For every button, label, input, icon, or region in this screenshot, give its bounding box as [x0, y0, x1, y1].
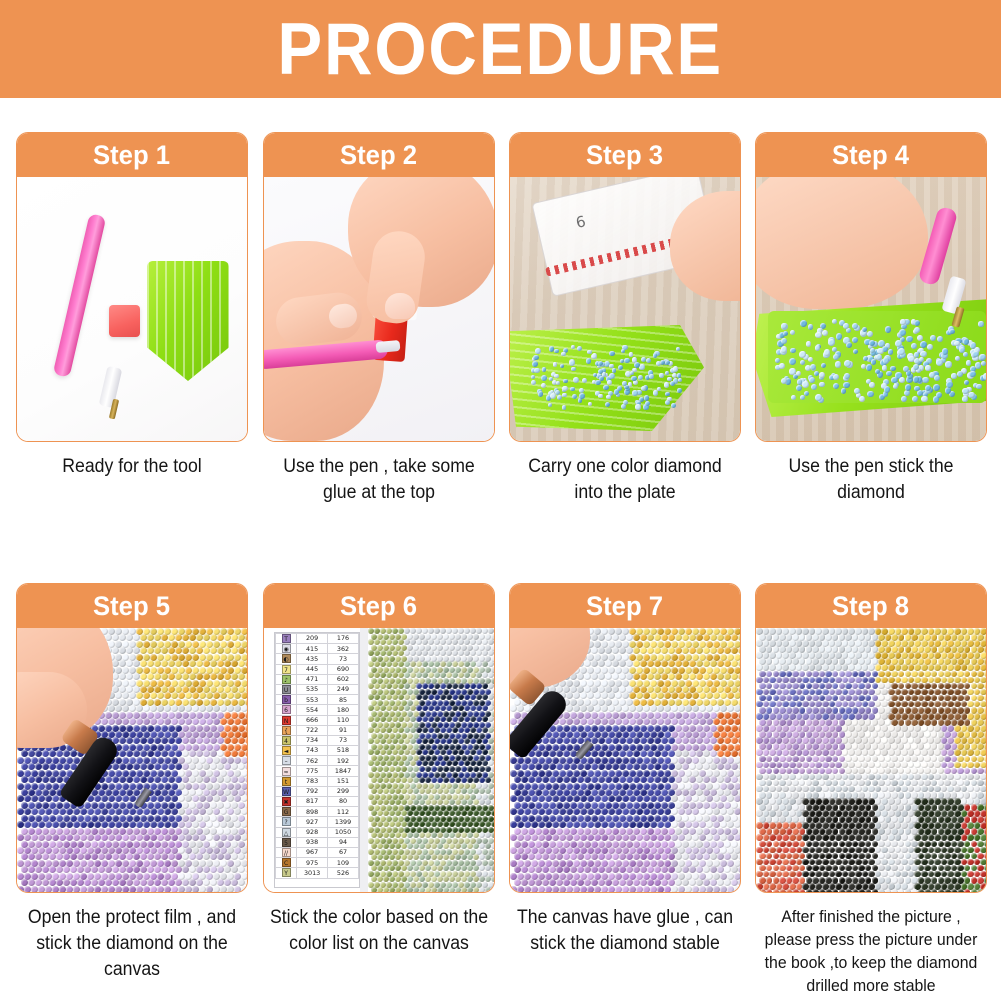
diamond-bead — [136, 834, 143, 841]
diamond-bead — [738, 673, 741, 680]
diamond-bead — [844, 360, 851, 367]
color-code-cell: 553 — [297, 695, 328, 705]
diamond-bead — [963, 338, 970, 345]
color-symbol-icon: ≈ — [282, 767, 291, 776]
diamond-bead — [678, 886, 685, 892]
diamond-bead — [727, 834, 734, 841]
diamond-bead — [671, 403, 676, 408]
color-swatch-cell: 5 — [276, 837, 297, 847]
step-2-image — [264, 177, 494, 441]
step-5-header: Step 5 — [17, 584, 247, 628]
diamond-bead — [911, 343, 917, 349]
diamond-bead — [192, 834, 199, 841]
diamond-bead — [17, 834, 24, 841]
glue-square-icon — [109, 305, 140, 337]
step-card-1[interactable]: Step 1 — [16, 132, 248, 442]
diamond-bead — [895, 340, 902, 347]
step-3-caption: Carry one color diamond into the plate — [513, 454, 736, 506]
diamond-bead — [199, 834, 206, 841]
color-code-cell: 783 — [297, 776, 328, 786]
color-chart-row: ◐43573 — [276, 654, 359, 664]
diamond-bead — [665, 371, 669, 375]
diamond-bead — [227, 834, 234, 841]
diamond-bead — [673, 366, 678, 371]
diamond-bead — [659, 373, 664, 378]
color-code-cell: 743 — [297, 746, 328, 756]
color-chart-row: //96767 — [276, 847, 359, 857]
diamond-bead — [643, 834, 650, 841]
fingernail-icon — [385, 293, 415, 319]
diamond-bead — [206, 886, 213, 892]
diamond-bead — [17, 886, 24, 892]
color-swatch-cell: N — [276, 715, 297, 725]
color-code-cell: 554 — [297, 705, 328, 715]
color-code-cell: 898 — [297, 807, 328, 817]
diamond-bead — [164, 886, 171, 892]
color-count-cell: 85 — [328, 695, 359, 705]
step-card-4[interactable]: Step 4 — [755, 132, 987, 442]
color-swatch-cell: W — [276, 786, 297, 796]
diamond-bead — [781, 346, 787, 352]
diamond-bead — [608, 886, 615, 892]
color-symbol-icon: { — [282, 726, 291, 735]
diamond-bead — [578, 398, 582, 402]
diamond-bead — [38, 886, 45, 892]
step-card-2[interactable]: Step 2 — [263, 132, 495, 442]
color-swatch-cell: △ — [276, 827, 297, 837]
color-count-cell: 67 — [328, 847, 359, 857]
diamond-bead — [52, 886, 59, 892]
color-symbol-icon: G — [282, 807, 291, 816]
step-5-image — [17, 628, 247, 892]
diamond-bead — [577, 346, 582, 351]
diamond-bead — [671, 886, 678, 892]
diamond-bead — [538, 391, 544, 397]
diamond-bead — [671, 834, 678, 841]
diamond-bead — [108, 886, 115, 892]
diamond-bead — [587, 834, 594, 841]
diamond-bead — [532, 361, 538, 367]
step-1-header-label: Step 1 — [94, 142, 171, 169]
color-swatch-cell: b — [276, 695, 297, 705]
color-count-cell: 518 — [328, 746, 359, 756]
diamond-bead — [962, 388, 968, 394]
diamond-bead — [734, 834, 740, 841]
color-symbol-icon: ? — [282, 817, 291, 826]
diamond-bead — [535, 348, 541, 354]
step-card-5[interactable]: Step 5 — [16, 583, 248, 893]
step-5-header-label: Step 5 — [94, 593, 171, 620]
diamond-bead — [629, 886, 636, 892]
diamond-bead — [510, 886, 517, 892]
diamond-bead — [620, 359, 624, 363]
diamond-bead — [859, 396, 865, 402]
diamond-bead — [962, 396, 967, 401]
diamond-bead — [664, 382, 669, 387]
color-swatch-cell: ♪ — [276, 674, 297, 684]
hand-icon — [756, 177, 928, 309]
diamond-bead — [677, 388, 681, 392]
color-code-cell: 722 — [297, 725, 328, 735]
diamond-bead — [983, 373, 986, 379]
color-chart-row: 593894 — [276, 837, 359, 847]
color-swatch-cell: ◄ — [276, 746, 297, 756]
diamond-bead — [45, 886, 52, 892]
color-chart-row: △9281050 — [276, 827, 359, 837]
color-count-cell: 151 — [328, 776, 359, 786]
diamond-bead — [524, 886, 531, 892]
diamond-bead — [815, 394, 822, 401]
diamond-bead — [66, 834, 73, 841]
diamond-bead — [852, 337, 858, 343]
diamond-bead — [685, 834, 692, 841]
diamond-bead — [115, 886, 122, 892]
step-3-header: Step 3 — [510, 133, 740, 177]
diamond-bead — [713, 886, 720, 892]
diamond-bead — [538, 834, 545, 841]
color-code-cell: 927 — [297, 817, 328, 827]
color-count-cell: 91 — [328, 725, 359, 735]
color-swatch-cell: Y — [276, 868, 297, 878]
diamond-bead — [554, 374, 558, 378]
diamond-bead — [936, 359, 943, 366]
diamond-bead — [566, 834, 573, 841]
color-symbol-icon: Y — [282, 868, 291, 877]
page-gap — [360, 628, 368, 892]
color-symbol-icon: △ — [282, 828, 291, 837]
color-chart-row: T209176 — [276, 634, 359, 644]
diamond-bead — [844, 373, 850, 379]
diamond-bead — [545, 886, 552, 892]
diamond-bead — [594, 886, 601, 892]
diamond-bead — [875, 369, 880, 374]
diamond-bead — [914, 386, 920, 392]
diamond-bead — [559, 886, 566, 892]
diamond-bead — [828, 339, 835, 346]
diamond-bead — [913, 364, 919, 370]
diamond-bead — [664, 834, 671, 841]
diamond-bead — [561, 352, 565, 356]
diamond-bead — [905, 384, 911, 390]
diamond-bead — [563, 379, 567, 383]
diamond-bead — [841, 388, 846, 393]
color-symbol-icon: 5 — [282, 838, 291, 847]
diamond-bead — [31, 886, 38, 892]
diamond-bead — [884, 386, 891, 393]
color-swatch-cell: 6 — [276, 705, 297, 715]
color-chart-row: {72291 — [276, 725, 359, 735]
diamond-bead — [129, 886, 136, 892]
diamond-bead — [867, 331, 873, 337]
diamond-bead — [164, 834, 171, 841]
diamond-bead — [876, 354, 882, 360]
step-1-header: Step 1 — [17, 133, 247, 177]
diamond-bead — [552, 886, 559, 892]
diamond-bead — [38, 834, 45, 841]
step-card-8[interactable]: Step 8 — [755, 583, 987, 893]
color-code-cell: 975 — [297, 858, 328, 868]
finished-diamond-painting — [756, 628, 986, 892]
diamond-bead — [24, 886, 31, 892]
diamond-bead — [636, 886, 643, 892]
diamond-bead — [833, 383, 839, 389]
step-4-image — [756, 177, 986, 441]
color-swatch-cell: ? — [276, 817, 297, 827]
diamond-bead — [31, 834, 38, 841]
diamond-bead — [609, 373, 615, 379]
color-chart-table: T209176◉415362◐435737445690♪471602U53524… — [275, 633, 359, 879]
diamond-bead — [615, 834, 622, 841]
diamond-bead — [517, 886, 524, 892]
color-count-cell: 109 — [328, 858, 359, 868]
diamond-bead — [969, 371, 976, 378]
step-2-header: Step 2 — [264, 133, 494, 177]
color-count-cell: 602 — [328, 674, 359, 684]
color-swatch-cell: ◐ — [276, 654, 297, 664]
diamond-bead — [143, 886, 150, 892]
diamond-bead — [24, 834, 31, 841]
color-count-cell: 176 — [328, 634, 359, 644]
color-swatch-cell: ✖ — [276, 797, 297, 807]
color-code-cell: 666 — [297, 715, 328, 725]
color-chart-row: Y3013526 — [276, 868, 359, 878]
diamond-bead — [185, 834, 192, 841]
diamond-bead — [94, 886, 101, 892]
diamond-bead — [898, 348, 905, 355]
diamond-bead — [571, 367, 575, 371]
color-swatch-cell: U — [276, 684, 297, 694]
diamond-bead — [819, 382, 824, 387]
color-swatch-cell: // — [276, 847, 297, 857]
diamond-bead — [685, 886, 692, 892]
diamond-bead — [538, 886, 545, 892]
diamond-bead — [713, 834, 720, 841]
diamond-bead — [660, 360, 665, 365]
diamond-bead — [143, 834, 150, 841]
color-count-cell: 249 — [328, 684, 359, 694]
diamond-bead — [562, 393, 566, 397]
pen-tip-icon — [376, 340, 401, 353]
diamond-bead — [115, 834, 122, 841]
color-symbol-icon: N — [282, 716, 291, 725]
diamond-bead — [720, 834, 727, 841]
color-chart-row: t783151 — [276, 776, 359, 786]
color-count-cell: 80 — [328, 797, 359, 807]
diamond-bead — [101, 886, 108, 892]
step-card-7[interactable]: Step 7 — [509, 583, 741, 893]
color-symbol-icon: // — [282, 848, 291, 857]
diamond-bead — [706, 834, 713, 841]
diamond-bead — [942, 348, 948, 354]
color-chart-row: U535249 — [276, 684, 359, 694]
diamond-bead — [129, 834, 136, 841]
color-swatch-cell: ◉ — [276, 644, 297, 654]
color-symbol-icon: t — [282, 777, 291, 786]
diamond-bead — [692, 886, 699, 892]
diamond-bead — [213, 886, 220, 892]
diamond-bead — [649, 374, 653, 378]
diamond-bead — [635, 404, 640, 409]
color-chart-row: ≈7751847 — [276, 766, 359, 776]
color-symbol-icon: 6 — [282, 705, 291, 714]
diamond-bead — [699, 886, 706, 892]
diamond-bead — [664, 886, 671, 892]
diamond-bead — [580, 886, 587, 892]
diamond-bead — [157, 886, 164, 892]
diamond-bead — [608, 834, 615, 841]
step-3-image: 6 — [510, 177, 740, 441]
color-symbol-icon: ◉ — [282, 644, 291, 653]
diamond-bead — [968, 392, 974, 398]
diamond-bead — [582, 378, 587, 383]
diamond-bead — [213, 834, 220, 841]
diamond-bead — [650, 834, 657, 841]
diamond-bead — [592, 353, 598, 359]
diamond-bead — [87, 886, 94, 892]
color-code-cell: 435 — [297, 654, 328, 664]
diamond-bead — [549, 377, 553, 381]
diamond-bead — [808, 324, 813, 329]
diamond-bead — [150, 834, 157, 841]
diamond-bead — [524, 834, 531, 841]
color-count-cell: 362 — [328, 644, 359, 654]
color-swatch-cell: T — [276, 634, 297, 644]
diamond-bead — [631, 376, 636, 381]
color-swatch-cell: ≈ — [276, 766, 297, 776]
step-6-header: Step 6 — [264, 584, 494, 628]
diamond-bead — [636, 834, 643, 841]
diamond-bead — [598, 394, 603, 399]
diamond-bead — [866, 364, 872, 370]
diamond-bead — [245, 673, 248, 680]
diamond-bead — [623, 400, 628, 405]
diamond-bead — [945, 387, 951, 393]
diamond-bead — [781, 338, 787, 344]
color-chart-row: G898112 — [276, 807, 359, 817]
color-count-cell: 526 — [328, 868, 359, 878]
color-chart-row: W792299 — [276, 786, 359, 796]
diamond-bead — [906, 336, 913, 343]
diamond-bead — [579, 388, 584, 393]
diamond-bead — [59, 886, 66, 892]
color-symbol-icon: – — [282, 756, 291, 765]
diamond-bead — [706, 886, 713, 892]
color-chart-row: C975109 — [276, 858, 359, 868]
step-7-header: Step 7 — [510, 584, 740, 628]
color-count-cell: 192 — [328, 756, 359, 766]
diamond-bead — [781, 378, 787, 384]
diamond-bead — [122, 886, 129, 892]
step-6-image: T209176◉415362◐435737445690♪471602U53524… — [264, 628, 494, 892]
diamond-bead — [101, 834, 108, 841]
diamond-bead — [657, 834, 664, 841]
diamond-bead — [800, 395, 805, 400]
color-count-cell: 1847 — [328, 766, 359, 776]
diamond-bead — [234, 886, 241, 892]
diamond-bead — [925, 365, 931, 371]
diamond-bead — [552, 834, 559, 841]
color-symbol-icon: b — [282, 695, 291, 704]
step-card-3[interactable]: Step 3 6 — [509, 132, 741, 442]
diamond-bead — [920, 341, 927, 348]
diamond-bead — [650, 886, 657, 892]
color-count-cell: 180 — [328, 705, 359, 715]
color-code-cell: 734 — [297, 735, 328, 745]
diamond-bead — [946, 381, 953, 388]
color-code-cell: 471 — [297, 674, 328, 684]
diamond-bead — [615, 886, 622, 892]
diamond-bead — [157, 834, 164, 841]
color-code-cell: 445 — [297, 664, 328, 674]
diamond-bead — [185, 886, 192, 892]
color-code-cell: 535 — [297, 684, 328, 694]
diamond-bead — [606, 395, 611, 400]
diamond-bead — [643, 886, 650, 892]
color-code-cell: 415 — [297, 644, 328, 654]
color-chart-row: ✖81780 — [276, 797, 359, 807]
diamond-bead — [573, 377, 579, 383]
diamond-bead — [73, 834, 80, 841]
diamond-bead — [579, 393, 584, 398]
color-symbol-icon: T — [282, 634, 291, 643]
diamond-bead — [557, 395, 562, 400]
diamond-bead — [171, 886, 178, 892]
diamond-bead — [802, 381, 809, 388]
color-count-cell: 299 — [328, 786, 359, 796]
diamond-bead — [531, 375, 535, 379]
diamond-bead — [799, 351, 806, 358]
diamond-bead — [531, 380, 536, 385]
diamond-bead — [936, 392, 942, 398]
diamond-bead — [517, 834, 524, 841]
diamond-bead — [562, 405, 567, 410]
color-symbol-icon: ✖ — [282, 797, 291, 806]
diamond-bead — [601, 886, 608, 892]
step-4-header-label: Step 4 — [833, 142, 910, 169]
step-1-image — [17, 177, 247, 441]
color-symbol-icon: 7 — [282, 665, 291, 674]
color-chart-row: 7445690 — [276, 664, 359, 674]
diamond-bead — [629, 834, 636, 841]
diamond-bead — [900, 319, 905, 324]
color-swatch-cell: G — [276, 807, 297, 817]
color-count-cell: 73 — [328, 735, 359, 745]
color-chart-row: ?9271399 — [276, 817, 359, 827]
color-swatch-cell: { — [276, 725, 297, 735]
diamond-bead — [491, 887, 494, 892]
color-chart-row: 473473 — [276, 735, 359, 745]
color-count-cell: 112 — [328, 807, 359, 817]
diamond-bead — [836, 333, 843, 340]
diamond-bead — [87, 834, 94, 841]
step-card-6[interactable]: Step 6 T209176◉415362◐435737445690♪47160… — [263, 583, 495, 893]
diamond-bead — [227, 886, 234, 892]
diamond-bead — [241, 834, 247, 841]
diamond-bead — [804, 391, 809, 396]
diamond-bead — [885, 326, 892, 333]
diamond-bead — [206, 834, 213, 841]
diamond-bead — [178, 834, 185, 841]
diamond-bead — [533, 355, 539, 361]
color-list-table: T209176◉415362◐435737445690♪471602U53524… — [274, 632, 360, 888]
diamond-bead — [622, 834, 629, 841]
diamond-bead — [869, 382, 875, 388]
color-code-cell: 209 — [297, 634, 328, 644]
diamond-bead — [933, 384, 940, 391]
diamond-bead — [783, 331, 788, 336]
diamond-bead — [913, 376, 920, 383]
diamond-bead — [779, 363, 785, 369]
